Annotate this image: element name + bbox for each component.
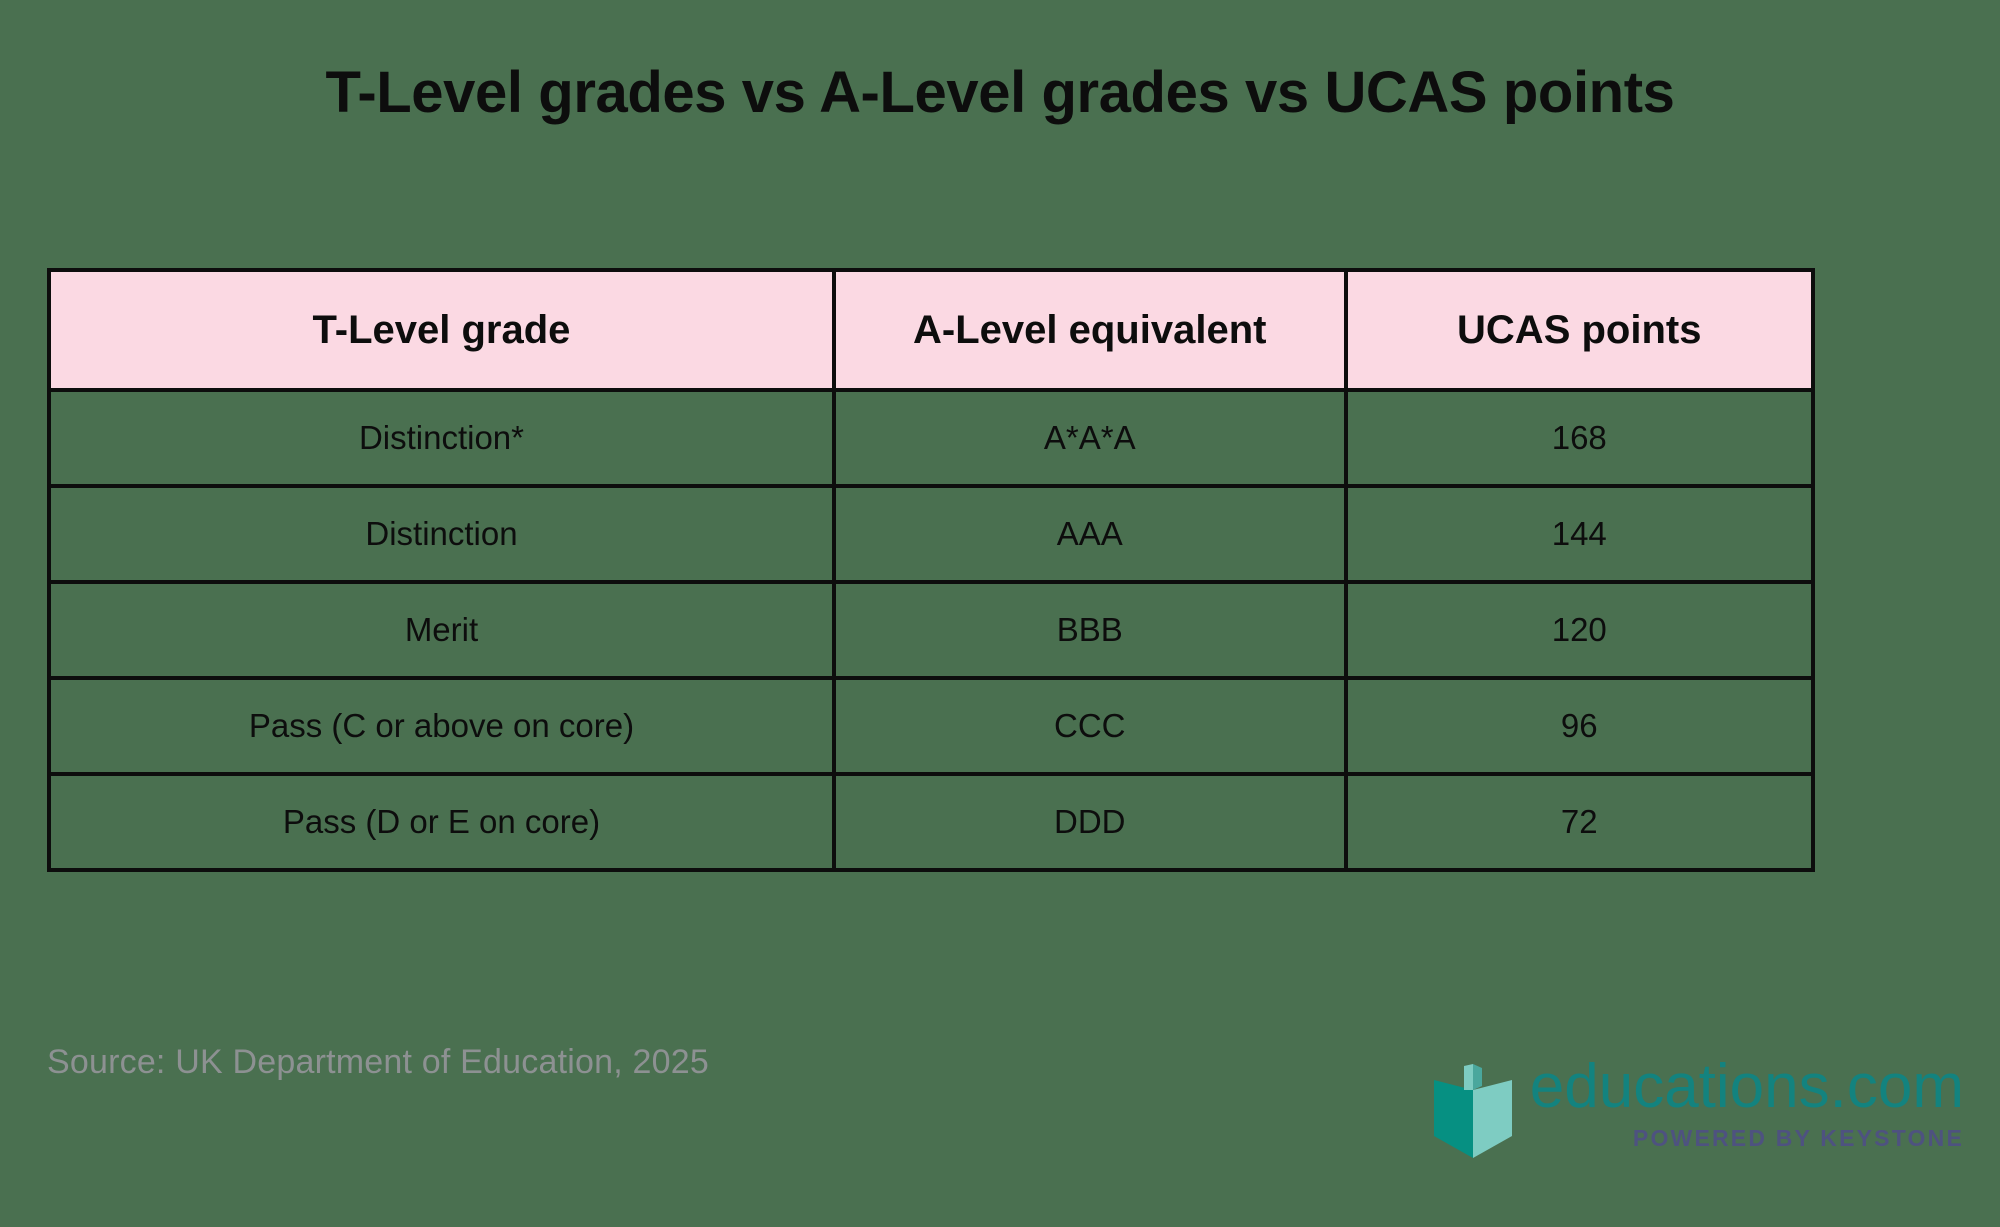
cell-alevel-equivalent: BBB — [834, 582, 1346, 678]
column-header-tlevel-grade: T-Level grade — [49, 270, 834, 390]
column-header-ucas-points: UCAS points — [1346, 270, 1813, 390]
table-body: Distinction* A*A*A 168 Distinction AAA 1… — [49, 390, 1813, 870]
cell-tlevel-grade: Distinction — [49, 486, 834, 582]
educations-logo: educations.com POWERED BY KEYSTONE — [1430, 1058, 1964, 1162]
table-row: Distinction* A*A*A 168 — [49, 390, 1813, 486]
table-row: Pass (C or above on core) CCC 96 — [49, 678, 1813, 774]
cell-alevel-equivalent: DDD — [834, 774, 1346, 870]
table-header-row: T-Level grade A-Level equivalent UCAS po… — [49, 270, 1813, 390]
cell-alevel-equivalent: A*A*A — [834, 390, 1346, 486]
table-row: Merit BBB 120 — [49, 582, 1813, 678]
open-book-icon — [1430, 1062, 1516, 1162]
cell-ucas-points: 96 — [1346, 678, 1813, 774]
logo-tagline: POWERED BY KEYSTONE — [1633, 1125, 1964, 1152]
grades-table: T-Level grade A-Level equivalent UCAS po… — [47, 268, 1815, 872]
table-row: Pass (D or E on core) DDD 72 — [49, 774, 1813, 870]
cell-ucas-points: 72 — [1346, 774, 1813, 870]
cell-ucas-points: 120 — [1346, 582, 1813, 678]
table-row: Distinction AAA 144 — [49, 486, 1813, 582]
cell-alevel-equivalent: CCC — [834, 678, 1346, 774]
logo-text-block: educations.com POWERED BY KEYSTONE — [1530, 1058, 1964, 1152]
cell-tlevel-grade: Merit — [49, 582, 834, 678]
cell-tlevel-grade: Pass (C or above on core) — [49, 678, 834, 774]
logo-wordmark: educations.com — [1530, 1058, 1964, 1117]
cell-alevel-equivalent: AAA — [834, 486, 1346, 582]
page-title: T-Level grades vs A-Level grades vs UCAS… — [0, 58, 2000, 128]
grades-table-container: T-Level grade A-Level equivalent UCAS po… — [47, 268, 1815, 872]
cell-tlevel-grade: Pass (D or E on core) — [49, 774, 834, 870]
source-note: Source: UK Department of Education, 2025 — [47, 1043, 709, 1082]
cell-ucas-points: 168 — [1346, 390, 1813, 486]
cell-tlevel-grade: Distinction* — [49, 390, 834, 486]
cell-ucas-points: 144 — [1346, 486, 1813, 582]
table-header: T-Level grade A-Level equivalent UCAS po… — [49, 270, 1813, 390]
column-header-alevel-equivalent: A-Level equivalent — [834, 270, 1346, 390]
infographic-page: T-Level grades vs A-Level grades vs UCAS… — [0, 0, 2000, 1227]
